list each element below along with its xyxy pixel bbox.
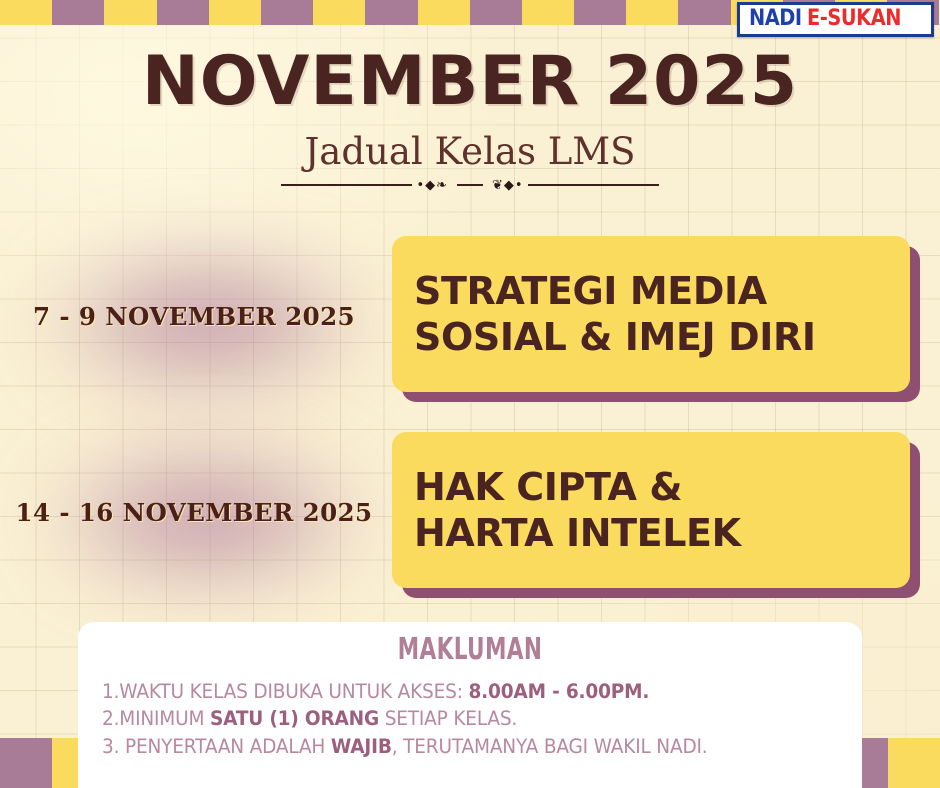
checker-cell <box>313 0 365 25</box>
checker-cell <box>0 738 52 788</box>
checker-cell <box>470 0 522 25</box>
note-item: 1.WAKTU KELAS DIBUKA UNTUK AKSES: 8.00AM… <box>102 678 807 706</box>
divider-rule-left <box>281 184 412 186</box>
nadi-esukan-logo: NADIE-SUKAN <box>737 2 934 37</box>
checker-cell <box>365 0 417 25</box>
checker-cell <box>104 0 156 25</box>
checker-cell <box>522 0 574 25</box>
checker-cell <box>0 0 52 25</box>
schedule-class-card[interactable]: HAK CIPTA & HARTA INTELEK <box>392 432 910 588</box>
logo-word-nadi: NADI <box>749 6 802 31</box>
note-text: 1.WAKTU KELAS DIBUKA UNTUK AKSES: <box>102 680 468 703</box>
poster-canvas: NADIE-SUKAN NOVEMBER 2025 Jadual Kelas L… <box>0 0 940 788</box>
notes-panel: MAKLUMAN 1.WAKTU KELAS DIBUKA UNTUK AKSE… <box>78 622 862 788</box>
note-emphasis: SATU (1) ORANG <box>210 707 379 730</box>
decorative-divider: •◆❧ ❦◆• <box>281 178 659 192</box>
class-title-line-1: HAK CIPTA & <box>414 464 888 510</box>
checker-cell <box>574 0 626 25</box>
note-emphasis: WAJIB <box>331 735 392 758</box>
note-text: , TERUTAMANYA BAGI WAKIL NADI. <box>392 735 708 758</box>
note-item: 2.MINIMUM SATU (1) ORANG SETIAP KELAS. <box>102 705 807 733</box>
divider-rule-right <box>528 184 659 186</box>
notes-list: 1.WAKTU KELAS DIBUKA UNTUK AKSES: 8.00AM… <box>96 678 844 761</box>
checker-cell <box>52 0 104 25</box>
checker-cell <box>888 738 940 788</box>
note-item: 3. PENYERTAAN ADALAH WAJIB, TERUTAMANYA … <box>102 733 807 761</box>
class-title-line-2: SOSIAL & IMEJ DIRI <box>414 314 888 360</box>
divider-rule-middle <box>457 184 483 186</box>
note-text: SETIAP KELAS. <box>379 707 517 730</box>
checker-cell <box>626 0 678 25</box>
logo-word-esukan: E-SUKAN <box>807 6 901 31</box>
page-subtitle: Jadual Kelas LMS <box>0 132 940 173</box>
logo-text: NADIE-SUKAN <box>749 8 901 30</box>
divider-ornament-left: •◆❧ <box>412 179 452 192</box>
class-title-line-2: HARTA INTELEK <box>414 510 888 556</box>
checker-cell <box>209 0 261 25</box>
schedule-row: 14 - 16 NOVEMBER 2025 HAK CIPTA & HARTA … <box>0 432 940 592</box>
class-title-line-1: STRATEGI MEDIA <box>414 268 888 314</box>
checker-cell <box>418 0 470 25</box>
checker-cell <box>261 0 313 25</box>
page-title: NOVEMBER 2025 <box>0 48 940 116</box>
schedule-class-card[interactable]: STRATEGI MEDIA SOSIAL & IMEJ DIRI <box>392 236 910 392</box>
schedule-row: 7 - 9 NOVEMBER 2025 STRATEGI MEDIA SOSIA… <box>0 236 940 396</box>
note-text: 2.MINIMUM <box>102 707 210 730</box>
schedule-date: 7 - 9 NOVEMBER 2025 <box>0 236 388 396</box>
notes-heading: MAKLUMAN <box>201 634 740 666</box>
checker-cell <box>157 0 209 25</box>
checker-cell <box>678 0 730 25</box>
note-text: 3. PENYERTAAN ADALAH <box>102 735 331 758</box>
note-emphasis: 8.00AM - 6.00PM. <box>468 680 649 703</box>
divider-ornament-right: ❦◆• <box>488 179 528 192</box>
schedule-date: 14 - 16 NOVEMBER 2025 <box>0 432 388 592</box>
